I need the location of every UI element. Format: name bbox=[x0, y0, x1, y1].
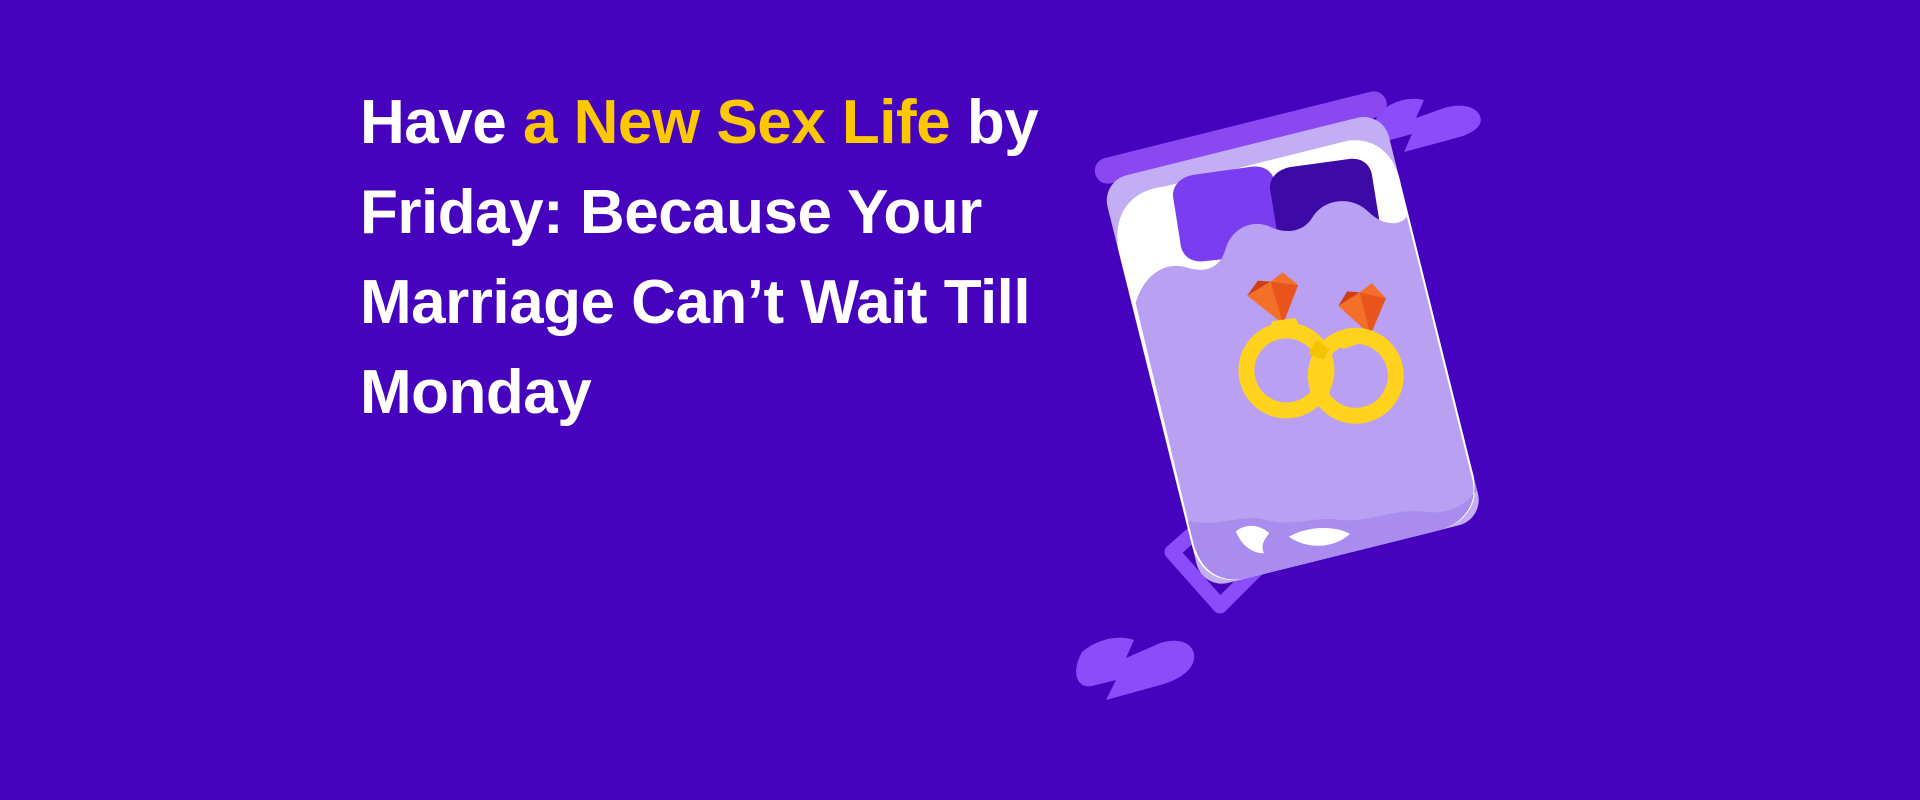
bed-group bbox=[1092, 89, 1490, 590]
decor-arrow-bottom-left-icon bbox=[1076, 638, 1194, 700]
promo-banner: Have a New Sex Life by Friday: Because Y… bbox=[0, 0, 1920, 800]
page-title: Have a New Sex Life by Friday: Because Y… bbox=[360, 78, 1080, 438]
bed-with-wedding-rings-illustration bbox=[1060, 60, 1560, 720]
headline-accent: a New Sex Life bbox=[523, 88, 950, 157]
ring-interlock-detail bbox=[1314, 345, 1326, 357]
headline-block: Have a New Sex Life by Friday: Because Y… bbox=[360, 78, 1080, 438]
headline-segment-1: Have bbox=[360, 88, 523, 157]
